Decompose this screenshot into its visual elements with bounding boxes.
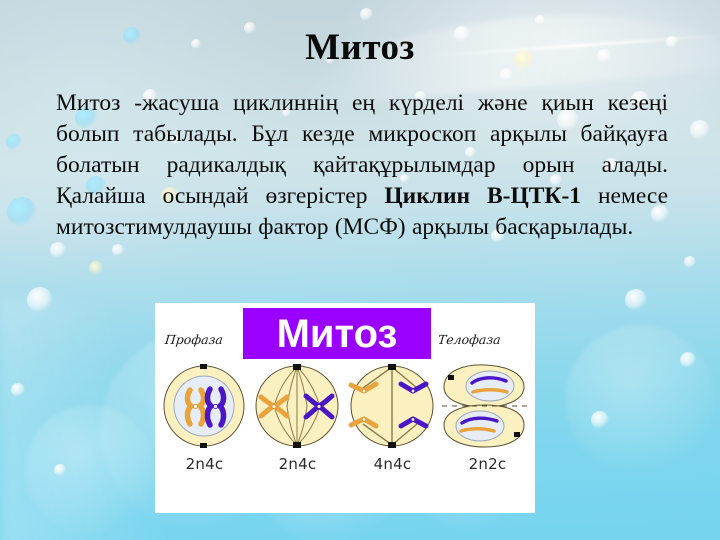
- phase-label-prophase: Профаза: [164, 332, 224, 347]
- bokeh-dot: [11, 383, 25, 397]
- background-blob: [25, 405, 155, 535]
- metaphase-svg: [250, 361, 345, 451]
- ploidy-label-telophase: 2n2c: [440, 455, 535, 473]
- anaphase-svg: [345, 361, 440, 451]
- background-blob: [565, 325, 715, 475]
- cell-diagram-metaphase: [250, 361, 345, 451]
- page-title: Митоз: [0, 26, 720, 70]
- ploidy-label-prophase: 2n4c: [157, 455, 252, 473]
- bokeh-dot: [6, 134, 22, 150]
- bokeh-dot: [7, 197, 37, 227]
- bokeh-dot: [591, 411, 609, 429]
- bokeh-dot: [112, 244, 124, 256]
- bokeh-dot: [625, 289, 647, 311]
- bokeh-dot: [89, 261, 103, 275]
- bokeh-dot: [680, 352, 696, 368]
- cell-diagram-telophase: [438, 361, 533, 451]
- bokeh-dot: [54, 464, 66, 476]
- bokeh-dot: [684, 256, 696, 268]
- cell-diagram-prophase: [157, 361, 252, 451]
- bokeh-dot: [50, 242, 66, 258]
- prophase-svg: [157, 361, 252, 451]
- ploidy-label-anaphase: 4n4c: [345, 455, 440, 473]
- figure-banner: Митоз: [243, 308, 431, 359]
- body-paragraph: Митоз -жасуша циклиннің ең күрделі және …: [56, 88, 668, 243]
- figure-banner-label: Митоз: [277, 314, 398, 354]
- ploidy-label-metaphase: 2n4c: [250, 455, 345, 473]
- bokeh-dot: [27, 287, 53, 313]
- telophase-svg: [438, 361, 533, 451]
- bokeh-dot: [690, 120, 710, 140]
- slide-canvas: Митоз Митоз -жасуша циклиннің ең күрделі…: [0, 0, 720, 540]
- body-segment-1: Циклин В-ЦТК-1: [384, 183, 581, 209]
- phase-label-telophase: Телофаза: [437, 332, 501, 347]
- mitosis-figure-panel: Митоз Профаза Телофаза: [155, 303, 535, 513]
- bokeh-dot: [360, 8, 373, 21]
- bokeh-dot: [535, 15, 545, 25]
- cell-diagram-anaphase: [345, 361, 440, 451]
